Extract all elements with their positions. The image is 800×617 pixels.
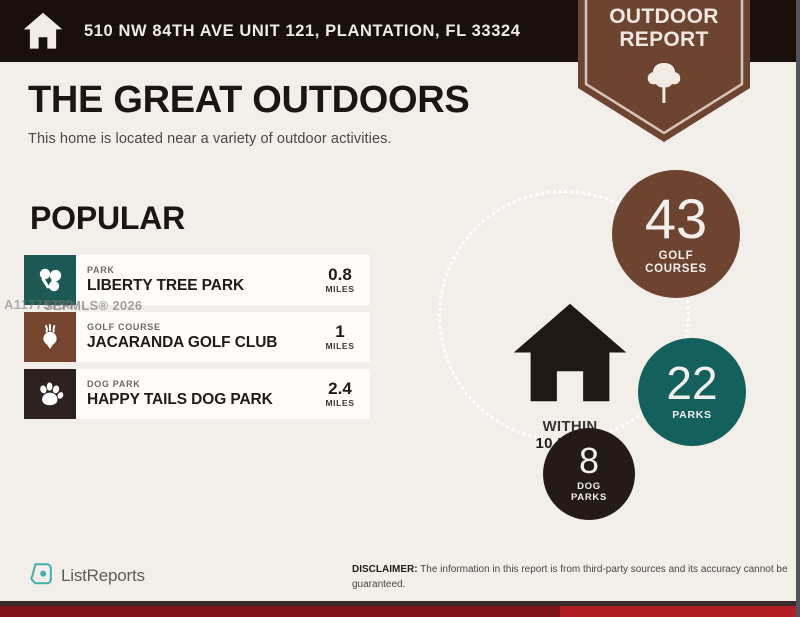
listreports-logo-text: ListReports [61,566,145,586]
popular-heading: POPULAR [30,200,185,237]
property-address: 510 NW 84TH AVE UNIT 121, PLANTATION, FL… [84,22,521,41]
list-item-name: JACARANDA GOLF CLUB [87,333,314,352]
bubble-label-line2: COURSES [645,263,707,275]
list-item-distance: 2.4 MILES [314,369,370,419]
list-item-name: HAPPY TAILS DOG PARK [87,390,314,409]
list-item-text: GOLF COURSE JACARANDA GOLF CLUB [76,312,314,362]
radius-diagram: WITHIN 10 MILES 43 GOLF COURSES 22 PARKS… [420,160,780,530]
listreports-logo[interactable]: ListReports [30,562,145,590]
home-icon [22,11,64,51]
list-item-text: PARK LIBERTY TREE PARK [76,255,314,305]
list-item-distance: 0.8 MILES [314,255,370,305]
list-item[interactable]: DOG PARK HAPPY TAILS DOG PARK 2.4 MILES [24,369,370,419]
outdoor-report-badge: OUTDOOR REPORT [578,0,750,144]
list-item-name: LIBERTY TREE PARK [87,276,314,295]
paw-print-icon [24,369,76,419]
bubble-label-line1: DOG [577,481,601,492]
page-title: THE GREAT OUTDOORS [28,80,469,122]
listreports-house-icon [30,562,53,590]
bubble-label: GOLF COURSES [645,250,707,276]
list-item[interactable]: PARK LIBERTY TREE PARK 0.8 MILES [24,255,370,305]
bubble-label: PARKS [672,410,711,422]
bubble-label-line2: PARKS [571,492,607,503]
distance-value: 0.8 [328,266,352,284]
bubble-count: 8 [579,444,599,478]
count-bubble-golf-courses[interactable]: 43 GOLF COURSES [612,170,740,298]
bubble-count: 22 [666,362,717,406]
distance-unit: MILES [326,341,355,351]
disclaimer: DISCLAIMER: The information in this repo… [352,563,792,592]
bubble-label: DOG PARKS [571,482,607,503]
list-item-category: DOG PARK [87,379,314,390]
radius-center-label: WITHIN 10 MILES [510,300,630,452]
list-item-category: GOLF COURSE [87,322,314,333]
golf-ball-tee-icon [24,312,76,362]
distance-unit: MILES [326,284,355,294]
hero-block: THE GREAT OUTDOORS This home is located … [28,80,469,147]
list-item-category: PARK [87,265,314,276]
park-tree-icon [24,255,76,305]
count-bubble-dog-parks[interactable]: 8 DOG PARKS [543,428,635,520]
list-item-distance: 1 MILES [314,312,370,362]
count-bubble-parks[interactable]: 22 PARKS [638,338,746,446]
outdoor-report-page: 510 NW 84TH AVE UNIT 121, PLANTATION, FL… [0,0,800,617]
bubble-label-line1: GOLF [659,250,694,262]
list-item-text: DOG PARK HAPPY TAILS DOG PARK [76,369,314,419]
distance-value: 2.4 [328,380,352,398]
disclaimer-label: DISCLAIMER: [352,564,418,575]
distance-value: 1 [335,323,344,341]
list-item[interactable]: GOLF COURSE JACARANDA GOLF CLUB 1 MILES [24,312,370,362]
distance-unit: MILES [326,398,355,408]
bubble-count: 43 [645,192,707,245]
page-subtitle: This home is located near a variety of o… [28,131,469,147]
popular-list: PARK LIBERTY TREE PARK 0.8 MILES GOLF CO… [24,255,370,426]
bottom-strip-red-highlight [560,606,800,617]
disclaimer-text: The information in this report is from t… [352,564,788,590]
home-icon [510,396,630,413]
